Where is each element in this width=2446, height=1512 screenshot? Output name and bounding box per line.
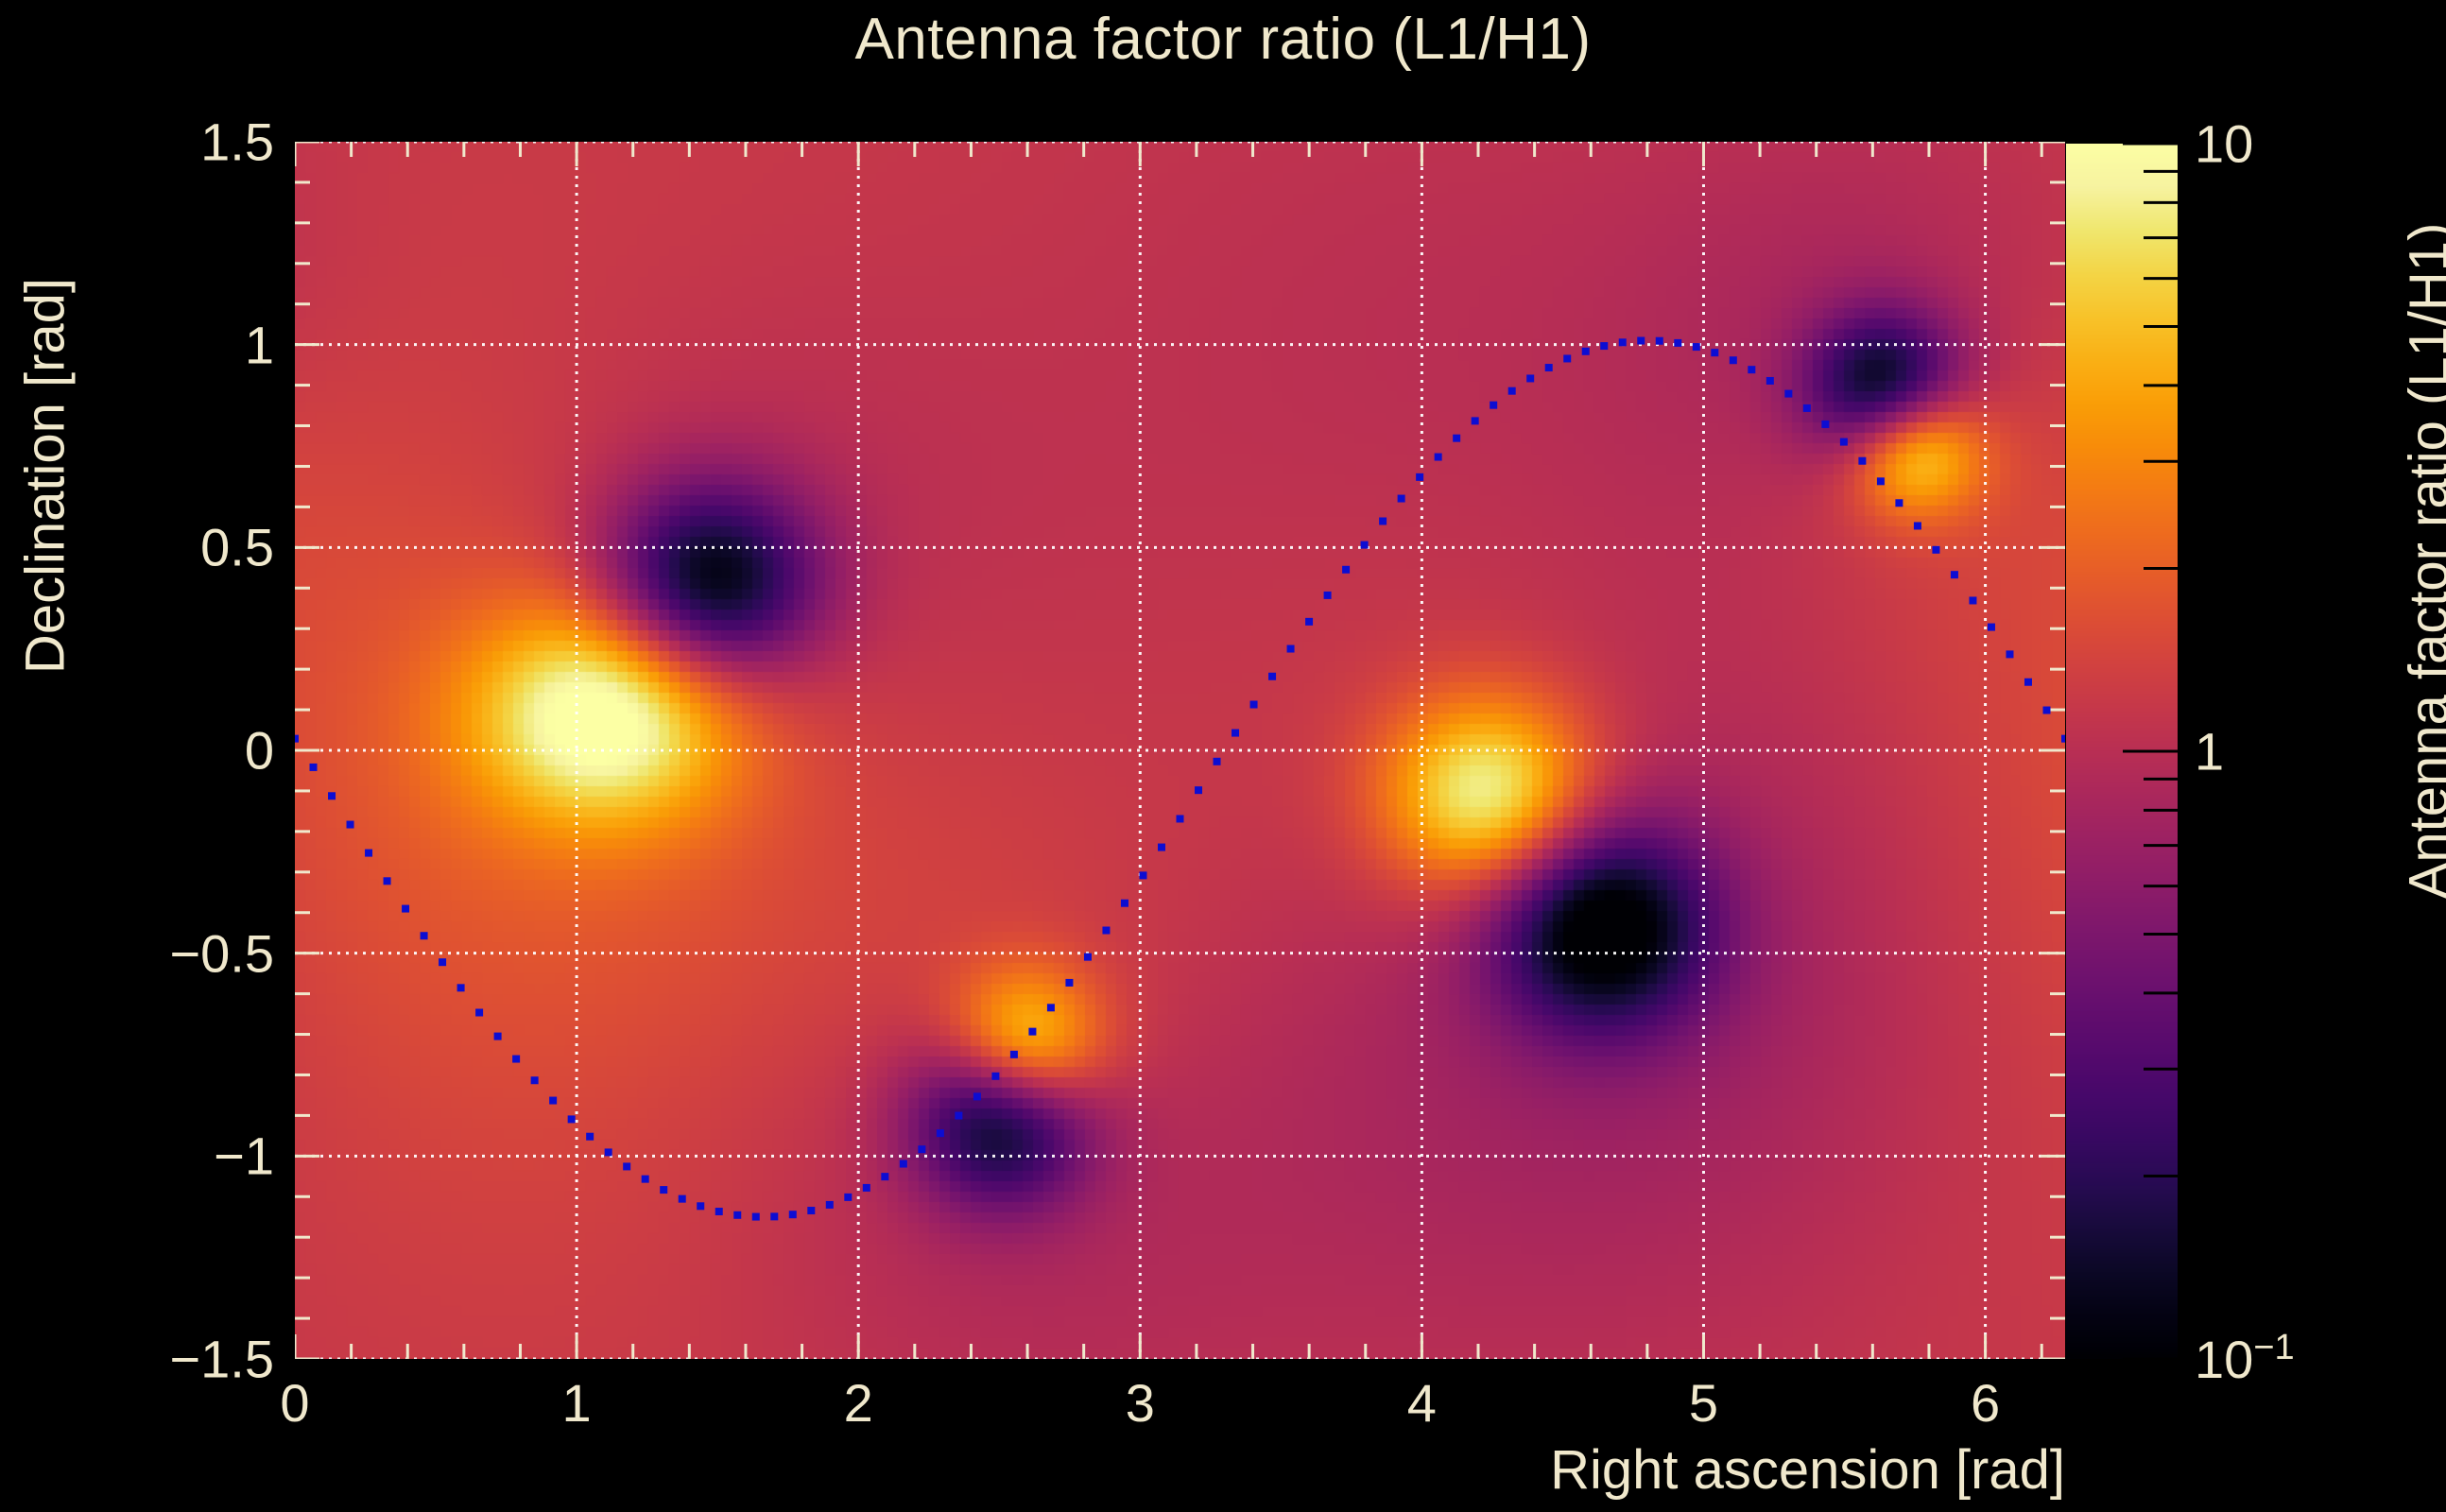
x-tick-label: 3	[1126, 1372, 1155, 1434]
x-tick-label: 1	[562, 1372, 592, 1434]
y-axis-label: Declination [rad]	[14, 193, 78, 760]
x-tick-label: 4	[1407, 1372, 1437, 1434]
colorbar-tick-label: 10−1	[2195, 1328, 2295, 1390]
y-tick-label: 0.5	[200, 517, 274, 578]
colorbar-tick-label: 10	[2195, 113, 2253, 175]
y-tick-label: −0.5	[169, 922, 274, 984]
x-tick-label: 0	[280, 1372, 309, 1434]
colorbar-label: Antenna factor ratio (L1/H1)	[2398, 183, 2446, 939]
figure-title: Antenna factor ratio (L1/H1)	[0, 6, 2446, 73]
y-tick-label: −1	[214, 1125, 274, 1187]
x-tick-label: 5	[1689, 1372, 1718, 1434]
figure-canvas: Antenna factor ratio (L1/H1) 1.510.50−0.…	[0, 0, 2446, 1512]
y-tick-label: 1	[245, 314, 274, 375]
y-tick-label: −1.5	[169, 1329, 274, 1390]
y-tick-label: 1.5	[200, 112, 274, 173]
heatmap-image	[295, 142, 2065, 1359]
x-axis-label: Right ascension [rad]	[1025, 1438, 2065, 1502]
x-tick-label: 6	[1971, 1372, 2000, 1434]
colorbar-tick-label: 1	[2195, 721, 2224, 782]
heatmap-plot-area[interactable]	[295, 142, 2065, 1359]
x-tick-label: 2	[844, 1372, 873, 1434]
colorbar-tick-marks	[2066, 144, 2178, 1359]
colorbar[interactable]	[2066, 144, 2178, 1359]
y-tick-label: 0	[245, 720, 274, 782]
